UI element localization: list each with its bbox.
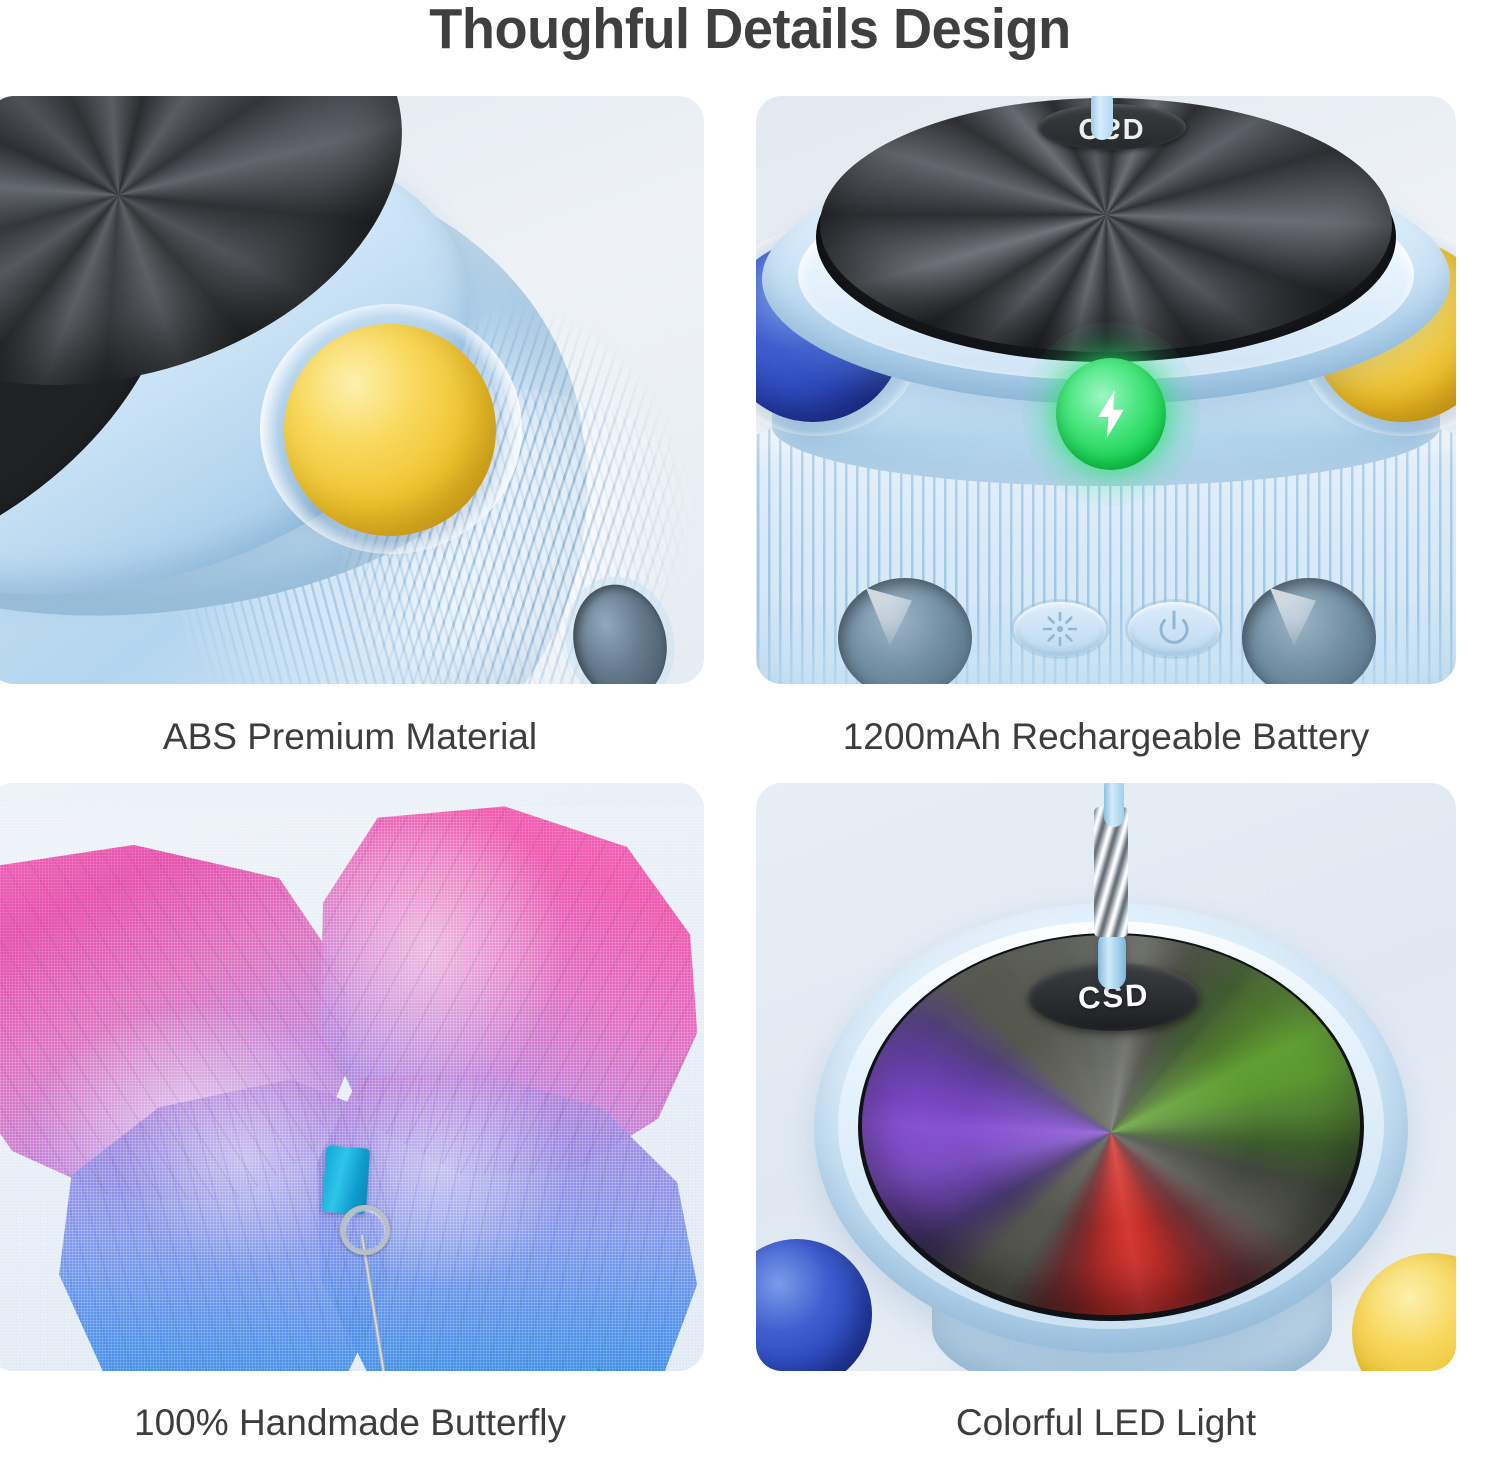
- wand-rod: [1104, 783, 1124, 827]
- wand-rod: [1091, 96, 1113, 140]
- power-button[interactable]: [1128, 602, 1220, 656]
- charging-bolt-icon: [1094, 390, 1128, 438]
- product-photo-abs-material: [0, 96, 704, 684]
- caption-colorful-led-light: Colorful LED Light: [756, 1399, 1456, 1447]
- product-photo-led-light: CSD: [756, 783, 1456, 1371]
- caption-handmade-butterfly: 100% Handmade Butterfly: [0, 1399, 700, 1447]
- brightness-button[interactable]: [1014, 602, 1106, 656]
- blue-track-ball: [756, 1239, 872, 1371]
- wand-connector: [1098, 931, 1126, 989]
- panel-abs-premium-material: [0, 96, 704, 684]
- infographic-page: Thoughful Details Design ABS Premium Mat…: [0, 0, 1500, 1462]
- page-title: Thoughful Details Design: [38, 0, 1463, 60]
- yellow-track-ball: [1352, 1253, 1456, 1371]
- product-photo-butterfly: [0, 783, 704, 1371]
- power-icon: [1154, 609, 1194, 649]
- metal-split-ring: [340, 1205, 390, 1255]
- brightness-icon: [1040, 609, 1080, 649]
- panel-rechargeable-battery: CSD: [756, 96, 1456, 684]
- caption-abs-premium-material: ABS Premium Material: [0, 713, 700, 761]
- yellow-track-ball: [284, 324, 496, 536]
- product-photo-battery: CSD: [756, 96, 1456, 684]
- panel-colorful-led-light: CSD: [756, 783, 1456, 1371]
- caption-rechargeable-battery: 1200mAh Rechargeable Battery: [756, 713, 1456, 761]
- panel-handmade-butterfly: [0, 783, 704, 1371]
- charging-led-indicator: [1056, 358, 1166, 470]
